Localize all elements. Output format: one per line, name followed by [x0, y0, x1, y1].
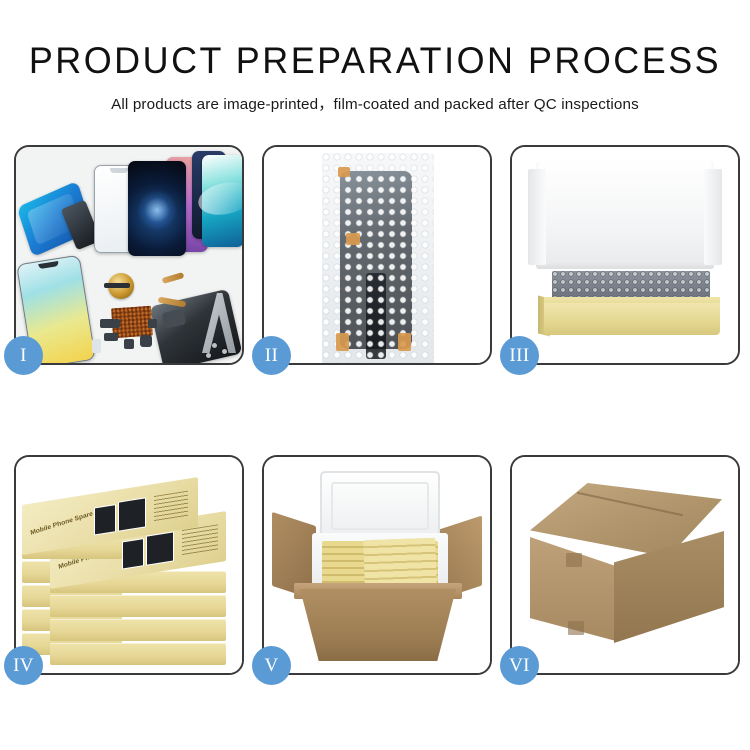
carton-with-foam-illustration: [264, 457, 490, 673]
box-product-image-graphic: [94, 504, 116, 535]
step-image-1: [16, 147, 242, 363]
step-badge-3: III: [500, 336, 539, 375]
small-component-graphic: [140, 335, 152, 347]
process-step-card-4[interactable]: Mobile Phone Spare Parts Mobile Phone Sp…: [14, 455, 244, 675]
process-step-card-1[interactable]: I: [14, 145, 244, 365]
step-badge-5: V: [252, 646, 291, 685]
process-step-card-2[interactable]: II: [262, 145, 492, 365]
box-product-image-graphic: [122, 538, 144, 569]
box-spec-lines-graphic: [182, 524, 218, 556]
step-image-3: [512, 147, 738, 363]
open-flat-box-illustration: [512, 147, 738, 363]
orange-tape-graphic: [336, 333, 349, 351]
step-image-6: [512, 457, 738, 673]
flex-cable-graphic: [162, 272, 185, 284]
process-step-grid: I II: [14, 145, 740, 675]
step-image-2: [264, 147, 490, 363]
step-badge-1: I: [4, 336, 43, 375]
process-step-card-3[interactable]: III: [510, 145, 740, 365]
white-foam-lid-graphic: [536, 161, 714, 269]
bubble-wrap-bag-graphic: [322, 153, 434, 363]
styrofoam-lid-graphic: [320, 471, 440, 541]
screw-graphic: [222, 349, 227, 354]
packed-yellow-boxes-graphic: [363, 538, 437, 586]
step-image-4: Mobile Phone Spare Parts Mobile Phone Sp…: [16, 457, 242, 673]
step-image-5: [264, 457, 490, 673]
page-subtitle: All products are image-printed，film-coat…: [0, 81, 750, 114]
dark-display-phone-graphic: [128, 161, 186, 256]
carton-flap-tab-graphic: [568, 621, 584, 635]
orange-tape-graphic: [398, 333, 411, 351]
orange-tape-graphic: [338, 167, 350, 177]
product-parts-layout-illustration: [16, 147, 242, 363]
small-component-graphic: [104, 333, 118, 341]
carton-flap-tab-graphic: [566, 553, 582, 567]
process-step-card-6[interactable]: VI: [510, 455, 740, 675]
process-step-card-5[interactable]: V: [262, 455, 492, 675]
box-product-image-graphic: [118, 497, 146, 531]
small-component-graphic: [92, 339, 101, 353]
sealed-carton-illustration: [512, 457, 738, 673]
kraft-box-front-graphic: [544, 303, 720, 335]
box-spec-lines-graphic: [154, 491, 188, 522]
step-badge-4: IV: [4, 646, 43, 685]
speaker-part-graphic: [104, 283, 130, 288]
page-header: PRODUCT PREPARATION PROCESS All products…: [0, 0, 750, 114]
step-badge-6: VI: [500, 646, 539, 685]
box-product-image-graphic: [146, 531, 174, 565]
stacked-box-graphic: [50, 595, 226, 617]
orange-tape-graphic: [346, 233, 360, 245]
small-component-graphic: [124, 339, 134, 349]
carton-body-graphic: [300, 589, 456, 661]
small-component-graphic: [148, 319, 157, 328]
stacked-box-graphic: [50, 619, 226, 641]
screw-graphic: [206, 353, 211, 358]
teal-gradient-phone-graphic: [202, 155, 242, 247]
page-title: PRODUCT PREPARATION PROCESS: [11, 0, 739, 81]
bubble-wrap-bag-illustration: [264, 147, 490, 363]
small-component-graphic: [100, 319, 120, 328]
screw-graphic: [212, 343, 217, 348]
stacked-box-graphic: [50, 643, 226, 665]
bubble-texture-graphic: [322, 153, 434, 363]
stacked-boxes-illustration: Mobile Phone Spare Parts Mobile Phone Sp…: [16, 457, 242, 673]
step-badge-2: II: [252, 336, 291, 375]
